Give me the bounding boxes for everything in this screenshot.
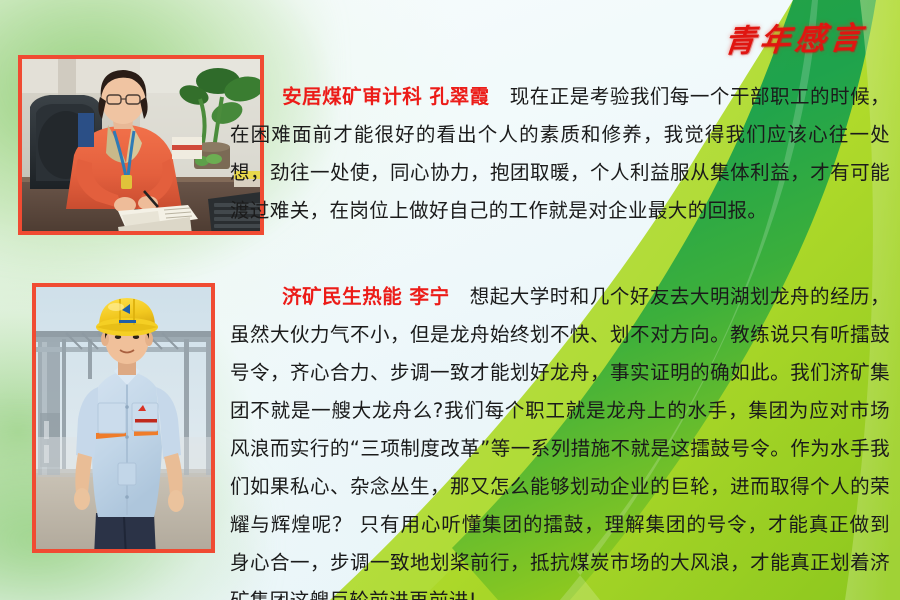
page-title: 青年感言 xyxy=(723,12,868,61)
testimonial-two-body: 想起大学时和几个好友去大明湖划龙舟的经历，虽然大伙力气不小，但是龙舟始终划不快、… xyxy=(230,285,890,600)
testimonial-two-text: 济矿民生热能 李宁想起大学时和几个好友去大明湖划龙舟的经历，虽然大伙力气不小，但… xyxy=(230,278,890,600)
portrait-li-ning xyxy=(32,283,215,553)
testimonial-poster: 青年感言 xyxy=(0,0,900,600)
testimonial-two-speaker: 济矿民生热能 李宁 xyxy=(282,285,450,308)
portrait-li-ning-image xyxy=(36,287,211,549)
testimonial-one-text: 安居煤矿审计科 孔翠霞现在正是考验我们每一个干部职工的时候，在困难面前才能很好的… xyxy=(230,78,890,230)
testimonial-one-speaker: 安居煤矿审计科 孔翠霞 xyxy=(282,85,490,108)
portrait-kong-cuixia xyxy=(18,55,264,235)
portrait-kong-cuixia-image xyxy=(22,59,260,231)
